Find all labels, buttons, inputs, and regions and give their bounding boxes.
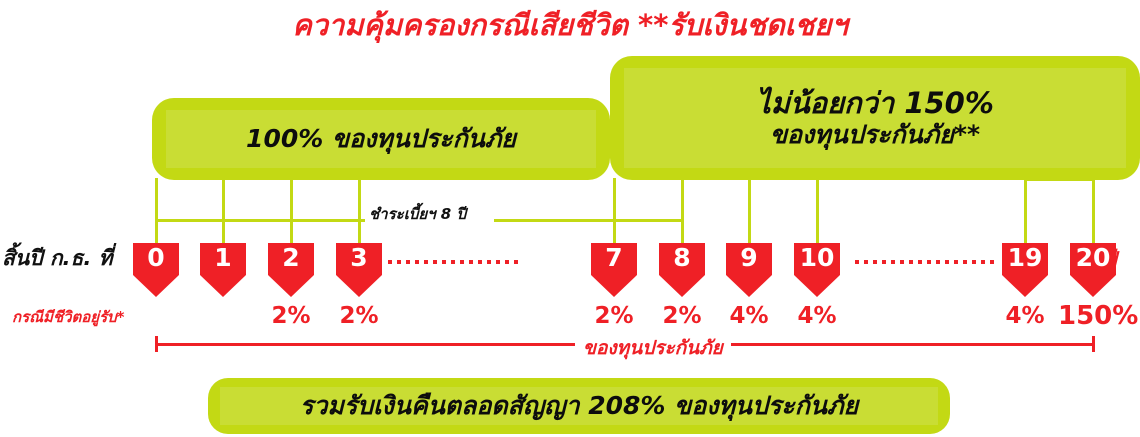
marker-0-point xyxy=(133,275,179,297)
marker-0[interactable]: 0 xyxy=(133,243,179,297)
connector-v-7 xyxy=(613,178,616,244)
payout-10: 4% xyxy=(782,303,852,329)
premium-period-label: ชำระเบี้ยฯ 8 ปี xyxy=(369,202,466,226)
marker-19-year: 19 xyxy=(1008,243,1043,272)
connector-v-1 xyxy=(222,178,225,244)
payout-2: 2% xyxy=(256,303,326,329)
marker-7-point xyxy=(591,275,637,297)
marker-7[interactable]: 7 xyxy=(591,243,637,297)
marker-1-head: 1 xyxy=(200,243,246,275)
marker-3-head: 3 xyxy=(336,243,382,275)
marker-9-point xyxy=(726,275,772,297)
payout-19: 4% xyxy=(990,303,1060,329)
dotted-separator-right xyxy=(855,260,998,264)
marker-3[interactable]: 3 xyxy=(336,243,382,297)
connector-v-3 xyxy=(358,178,361,244)
marker-19-point xyxy=(1002,275,1048,297)
marker-20[interactable]: 20 xyxy=(1070,243,1116,297)
marker-1-point xyxy=(200,275,246,297)
marker-10-year: 10 xyxy=(800,243,835,272)
marker-3-point xyxy=(336,275,382,297)
marker-10[interactable]: 10 xyxy=(794,243,840,297)
marker-19[interactable]: 19 xyxy=(1002,243,1048,297)
premium-line-right xyxy=(494,219,684,222)
marker-20-point xyxy=(1070,275,1116,297)
coverage-box-100-inner: 100% ของทุนประกันภัย xyxy=(166,110,596,168)
bracket-tick-left xyxy=(155,336,158,352)
marker-8[interactable]: 8 xyxy=(659,243,705,297)
connector-v-9 xyxy=(748,178,751,244)
coverage-box-150-inner: ไม่น้อยกว่า 150% ของทุนประกันภัย** xyxy=(624,68,1126,168)
payout-7: 2% xyxy=(579,303,649,329)
marker-1-year: 1 xyxy=(214,243,231,272)
payout-3: 2% xyxy=(324,303,394,329)
payout-8: 2% xyxy=(647,303,717,329)
marker-0-year: 0 xyxy=(147,243,164,272)
payout-9: 4% xyxy=(714,303,784,329)
connector-v-8 xyxy=(681,178,684,244)
connector-v-19 xyxy=(1024,178,1027,244)
marker-7-year: 7 xyxy=(605,243,622,272)
marker-2[interactable]: 2 xyxy=(268,243,314,297)
coverage-box-100-line1: 100% ของทุนประกันภัย xyxy=(246,124,516,154)
marker-8-head: 8 xyxy=(659,243,705,275)
summary-bar-inner: รวมรับเงินคืนตลอดสัญญา 208% ของทุนประกัน… xyxy=(220,387,938,425)
axis-left-label: สิ้นปี ก.ธ. ที่ xyxy=(2,242,112,275)
marker-20-year: 20 xyxy=(1076,243,1111,272)
marker-3-year: 3 xyxy=(350,243,367,272)
marker-2-year: 2 xyxy=(282,243,299,272)
summary-bar-text: รวมรับเงินคืนตลอดสัญญา 208% ของทุนประกัน… xyxy=(300,391,858,421)
summary-bar: รวมรับเงินคืนตลอดสัญญา 208% ของทุนประกัน… xyxy=(208,378,950,434)
bracket-tick-right xyxy=(1092,336,1095,352)
payout-20: 150% xyxy=(1058,301,1128,331)
marker-7-head: 7 xyxy=(591,243,637,275)
marker-9[interactable]: 9 xyxy=(726,243,772,297)
marker-2-head: 2 xyxy=(268,243,314,275)
marker-0-head: 0 xyxy=(133,243,179,275)
marker-1[interactable]: 1 xyxy=(200,243,246,297)
marker-10-point xyxy=(794,275,840,297)
premium-line-left xyxy=(155,219,365,222)
connector-v-0 xyxy=(155,178,158,244)
marker-9-head: 9 xyxy=(726,243,772,275)
marker-20-head: 20 xyxy=(1070,243,1116,275)
page-title: ความคุ้มครองกรณีเสียชีวิต **รับเงินชดเชย… xyxy=(0,2,1140,48)
coverage-box-150-line1: ไม่น้อยกว่า 150% xyxy=(756,86,994,120)
marker-2-point xyxy=(268,275,314,297)
marker-19-head: 19 xyxy=(1002,243,1048,275)
connector-v-10 xyxy=(816,178,819,244)
connector-h-right xyxy=(1024,178,1095,181)
coverage-box-150: ไม่น้อยกว่า 150% ของทุนประกันภัย** xyxy=(610,56,1140,180)
coverage-box-100: 100% ของทุนประกันภัย xyxy=(152,98,610,180)
dotted-separator-left xyxy=(388,260,520,264)
alive-benefit-label: กรณีมีชีวิตอยู่รับ* xyxy=(12,305,125,329)
connector-v-2 xyxy=(290,178,293,244)
bracket-label: ของทุนประกันภัย xyxy=(575,333,731,363)
marker-9-year: 9 xyxy=(740,243,757,272)
connector-v-20 xyxy=(1092,178,1095,244)
coverage-box-150-line2: ของทุนประกันภัย** xyxy=(770,120,980,150)
diagram-canvas: ความคุ้มครองกรณีเสียชีวิต **รับเงินชดเชย… xyxy=(0,0,1140,437)
marker-8-year: 8 xyxy=(673,243,690,272)
marker-8-point xyxy=(659,275,705,297)
marker-10-head: 10 xyxy=(794,243,840,275)
